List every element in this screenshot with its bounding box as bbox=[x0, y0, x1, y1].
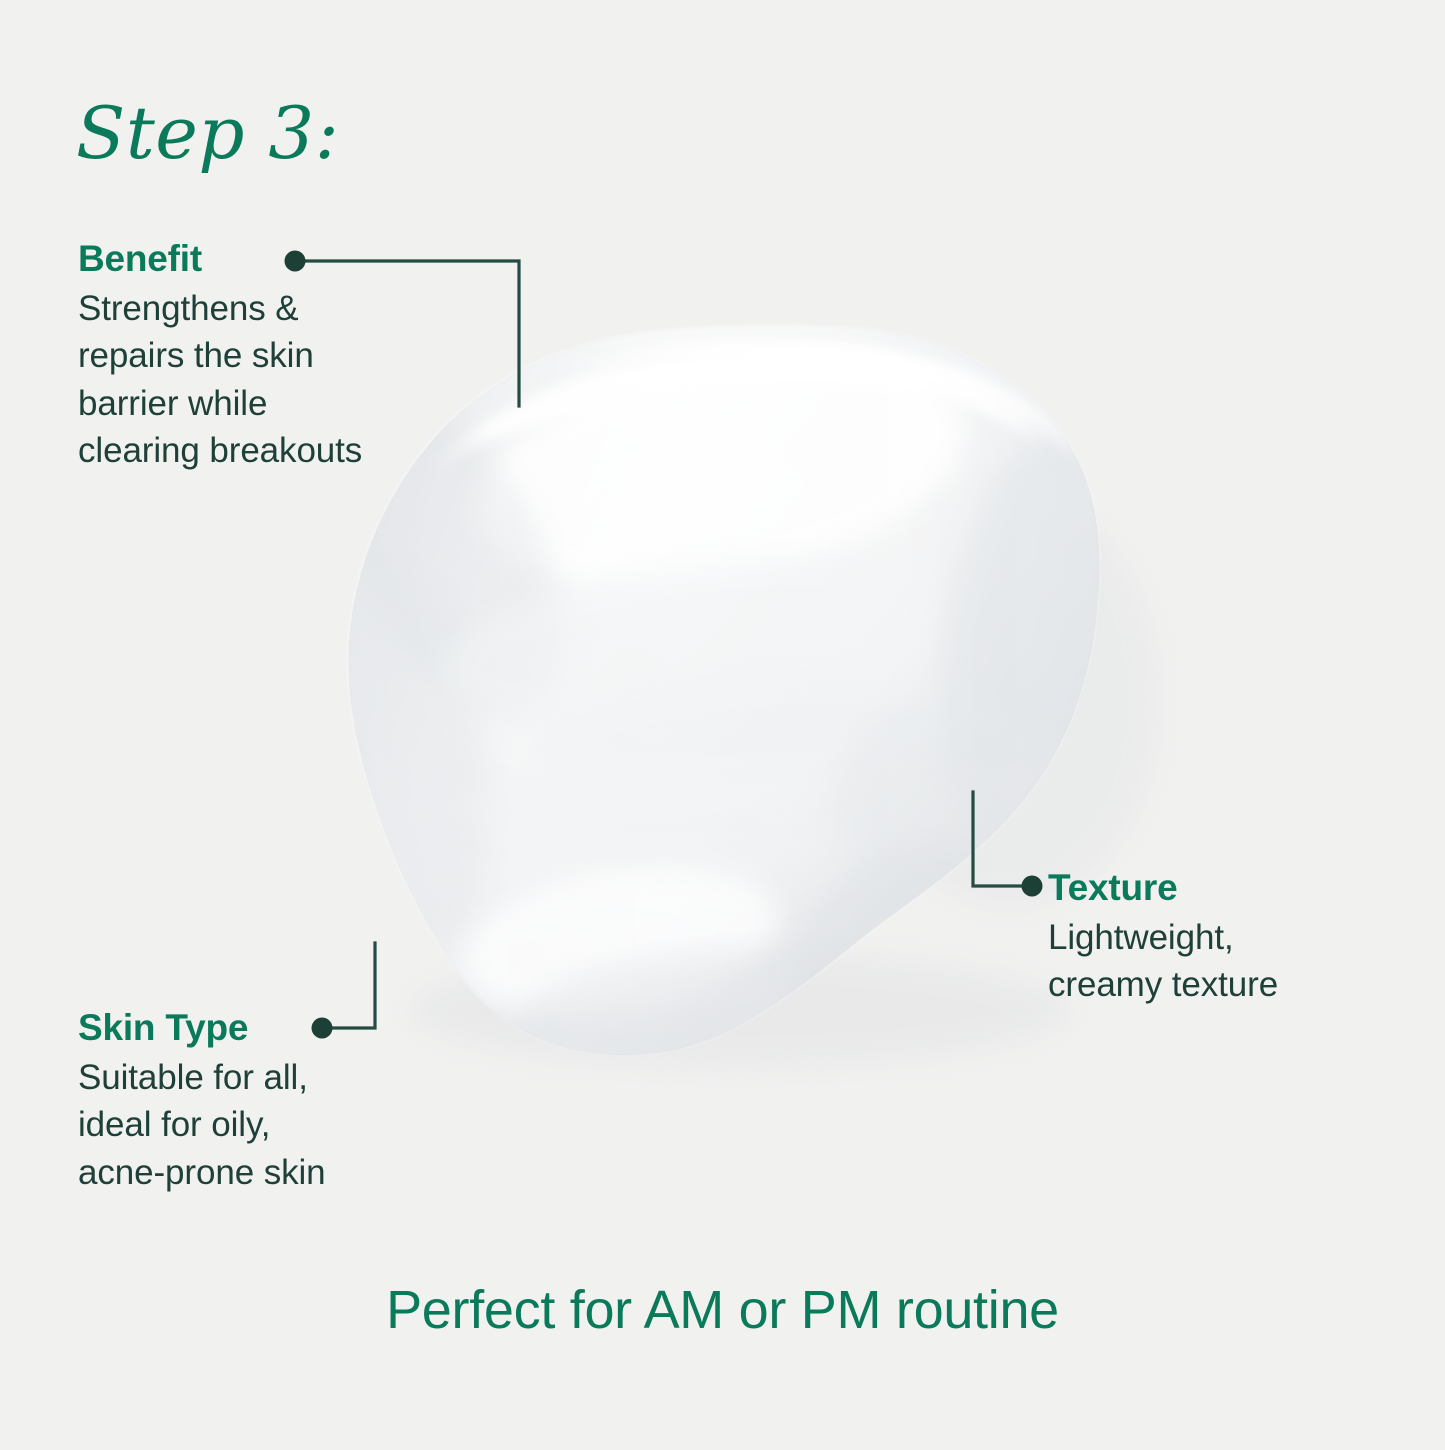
callout-connectors bbox=[0, 0, 1445, 1445]
callout-skin-type-label: Skin Type bbox=[78, 1006, 326, 1050]
callout-texture-label: Texture bbox=[1048, 866, 1278, 910]
callout-texture: Texture Lightweight, creamy texture bbox=[1048, 866, 1278, 1009]
connector-line-skin-type bbox=[322, 943, 375, 1028]
callout-skin-type-body: Suitable for all, ideal for oily, acne-p… bbox=[78, 1054, 326, 1197]
dot-marker-icon bbox=[1022, 876, 1043, 897]
callout-benefit-label: Benefit bbox=[78, 237, 362, 281]
callout-benefit: Benefit Strengthens & repairs the skin b… bbox=[78, 237, 362, 475]
callout-benefit-body: Strengthens & repairs the skin barrier w… bbox=[78, 285, 362, 475]
footer-caption: Perfect for AM or PM routine bbox=[0, 1278, 1445, 1343]
connector-line-texture bbox=[973, 792, 1032, 886]
callout-texture-body: Lightweight, creamy texture bbox=[1048, 914, 1278, 1009]
infographic-canvas: Step 3: bbox=[0, 0, 1445, 1445]
connector-texture bbox=[973, 792, 1043, 897]
callout-skin-type: Skin Type Suitable for all, ideal for oi… bbox=[78, 1006, 326, 1196]
